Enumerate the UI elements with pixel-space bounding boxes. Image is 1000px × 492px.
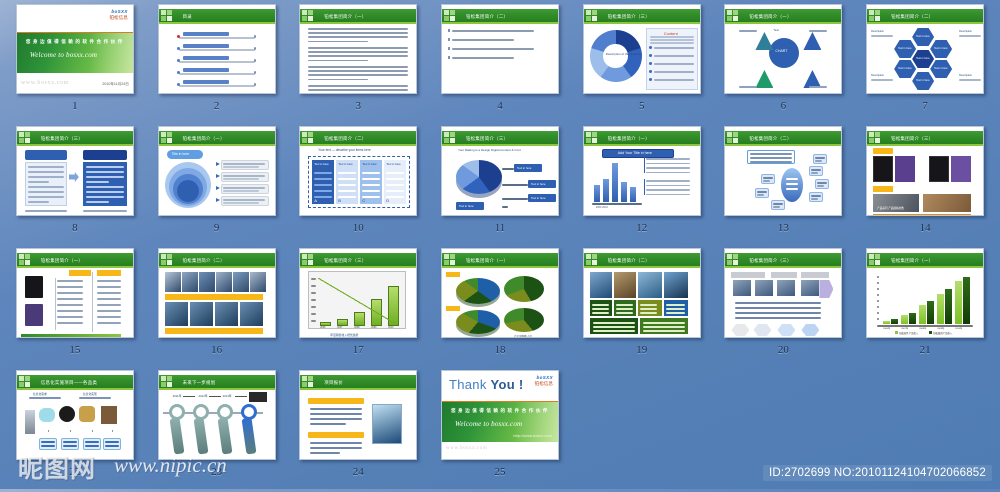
text-line: [643, 326, 685, 328]
slide-number: 14: [920, 222, 931, 234]
hex-node-4: [801, 324, 819, 336]
agenda-label: [183, 56, 229, 60]
slide-body: Your text — describe your items hereText…: [300, 146, 416, 215]
text-line: [308, 51, 408, 53]
summary-photo: [372, 404, 402, 444]
text-line: [338, 178, 356, 180]
pie-tag-label: Text in here: [517, 166, 531, 170]
text-line: [41, 445, 55, 447]
slide-thumbnail-6[interactable]: 铂松集团简介（一）CHARTText: [724, 4, 842, 94]
slide-thumbnail-11[interactable]: 铂松集团简介（三）Your Making is a Design Digital…: [441, 126, 559, 216]
text-line: [592, 304, 609, 306]
text-line: [666, 304, 685, 306]
slide-header-title: 铂松集团简介（一）: [183, 136, 225, 142]
text-line: [223, 163, 265, 165]
slide-thumbnail-24[interactable]: 项目报价: [299, 370, 417, 460]
photo-top: [250, 272, 266, 292]
text-line: [308, 55, 408, 57]
hex-desc: Description: [871, 74, 884, 77]
bar-series-2: [963, 277, 970, 325]
col-head-b: [97, 270, 121, 276]
text-line: [57, 310, 83, 312]
text-line: [28, 196, 64, 198]
text-line: [871, 79, 893, 81]
pie-chart: [456, 160, 502, 194]
slide-thumbnail-2[interactable]: 目录: [158, 4, 276, 94]
slide-thumbnail-21[interactable]: 铂松集团简介（一）2006年2007年2008年2009年2010年铂松软件产品…: [866, 248, 984, 338]
text-line: [811, 198, 818, 200]
text-line: [308, 89, 408, 91]
text-line: [593, 322, 635, 324]
banner-2: [308, 432, 364, 438]
slide-header-title: 项目报价: [324, 380, 343, 386]
slide-thumbnail-25[interactable]: Thank You !boSXX铂松信息您 身 边 值 得 信 赖 的 软 件 …: [441, 370, 559, 460]
slide-thumbnail-17[interactable]: 铂松集团简介（三）20062007200820092010年度销售收入增长趋势: [299, 248, 417, 338]
slide-body: CHARTText: [725, 24, 841, 93]
table-col-header: Text in here: [386, 162, 400, 166]
bar-series-2: [909, 313, 916, 325]
text-line: [386, 172, 404, 174]
slide-number: 2: [214, 100, 220, 112]
slide-header: 铂松集团简介（三）: [17, 131, 133, 144]
agenda-dot: [254, 35, 257, 38]
text-line: [739, 86, 757, 88]
slide-thumbnail-18[interactable]: 铂松集团简介（一）产品 销售额 占比: [441, 248, 559, 338]
chevron-right: [819, 280, 833, 298]
logo-en: boSXX: [535, 375, 553, 380]
hex-node-3: [777, 324, 795, 336]
bubble-node: [809, 166, 823, 176]
slide-header: 铂松集团简介（三）: [867, 131, 983, 144]
tag-1: [446, 272, 460, 277]
slide-body: 20062007200820092010年度销售收入增长趋势: [300, 268, 416, 337]
slide-header-title: 铂松集团简介（二）: [324, 136, 366, 142]
col-head-a: [69, 270, 91, 276]
photo-2: [614, 272, 636, 298]
text-line: [179, 73, 255, 75]
slide-header-title: 铂松集团简介（一）: [891, 258, 933, 264]
header-squares: [302, 10, 320, 21]
slide-thumbnail-4[interactable]: 铂松集团简介（二）: [441, 4, 559, 94]
text-line: [308, 32, 408, 34]
header-squares: [444, 10, 462, 21]
slide-body: [725, 146, 841, 215]
text-line: [57, 298, 83, 300]
star-center: [769, 38, 799, 68]
slide-cell-20: 铂松集团简介（三）20: [713, 248, 855, 370]
x-tick: 2006年: [883, 326, 890, 330]
slide-cell-3: 铂松集团简介（一）3: [287, 4, 429, 126]
text-line: [877, 306, 879, 308]
center-oval: [781, 168, 803, 202]
text-line: [362, 178, 380, 180]
text-line: [786, 188, 798, 190]
slide-header-title: 铂松集团简介（三）: [891, 136, 933, 142]
hex-desc: Description: [959, 74, 972, 77]
slide-header: 铂松集团简介（一）: [442, 253, 558, 266]
progress-bar: [21, 334, 121, 337]
text-line: [616, 308, 633, 310]
slide-thumbnail-9[interactable]: 铂松集团简介（一）Title in here: [158, 126, 276, 216]
slide-body: Description of the businessContent: [584, 24, 700, 93]
text-line: [654, 63, 694, 65]
photo-dark-1: [873, 156, 893, 182]
text-line: [311, 299, 316, 301]
text-line: [105, 441, 119, 443]
slide-body: [300, 24, 416, 93]
text-line: [640, 304, 657, 306]
hex-label: Text in here: [916, 57, 929, 60]
photo-top: [216, 272, 232, 292]
text-line: [308, 41, 368, 43]
slide-number: 4: [497, 100, 503, 112]
flow-year-3: 2013年: [223, 394, 232, 398]
slide-cell-11: 铂松集团简介（三）Your Making is a Design Digital…: [429, 126, 571, 248]
star-arm: [755, 70, 773, 88]
bar-series-1: [937, 294, 944, 324]
slide-body: Text in hereText in hereText in hereText…: [867, 24, 983, 93]
onion-item: [221, 196, 269, 206]
slide-thumbnail-20[interactable]: 铂松集团简介（三）: [724, 248, 842, 338]
text-line: [308, 79, 368, 81]
header-squares: [444, 132, 462, 143]
header-squares: [586, 254, 604, 265]
slide-thumbnail-1[interactable]: boSXX铂松信息您 身 边 值 得 信 赖 的 软 件 合 作 伙 伴Welc…: [16, 4, 134, 94]
text-line: [311, 278, 316, 280]
text-line: [815, 160, 822, 162]
text-line: [308, 47, 408, 49]
slide-header: 铂松集团简介（二）: [442, 9, 558, 22]
text-line: [311, 285, 316, 287]
website-url: www.bosxx.com: [446, 446, 487, 451]
x-tick: 2007年: [901, 326, 908, 330]
text-line: [310, 408, 362, 410]
slide-body: 产品 销售额 占比: [442, 268, 558, 337]
slide-header-title: 目录: [183, 14, 192, 20]
arrow-2: [209, 396, 221, 397]
slide-thumbnail-8[interactable]: 铂松集团简介（三）: [16, 126, 134, 216]
company-name: 您 身 边 值 得 信 赖 的 软 件 合 作 伙 伴: [26, 39, 123, 45]
x-tick: 2008年: [919, 326, 926, 330]
title-footer: www.bosxx.com2010年11月24日: [17, 73, 133, 93]
slide-cell-13: 铂松集团简介（二）13: [713, 126, 855, 248]
table-col-header: Text in here: [338, 162, 352, 166]
text-line: [28, 166, 64, 168]
slide-thumbnail-5[interactable]: 铂松集团简介（三）Description of the businessCont…: [583, 4, 701, 94]
legend-label-1: 铂松软件产品收入: [899, 331, 918, 335]
arrow-3: [235, 396, 247, 397]
text-line: [877, 312, 879, 314]
text-line: [452, 39, 514, 41]
text-line: [593, 326, 635, 328]
agenda-dot: [254, 83, 257, 86]
slide-header-title: 铂松集团简介（二）: [749, 136, 791, 142]
x-tick: 2010年: [955, 326, 962, 330]
org-label-2: 信息化实现: [83, 392, 97, 396]
text-line: [308, 70, 408, 72]
slide-thumbnail-13[interactable]: 铂松集团简介（二）: [724, 126, 842, 216]
photo-bottom: [215, 302, 238, 326]
slide-body: [725, 268, 841, 337]
text-line: [97, 316, 121, 318]
text-line: [338, 190, 356, 192]
welcome-text: Welcome to bosxx.com: [455, 420, 522, 428]
slide-cell-23: 未来下一步规划2011年2012年2013年23: [146, 370, 288, 492]
slide-header: 铂松集团简介（一）: [584, 131, 700, 144]
x-tick: 2007: [337, 327, 342, 329]
title-top: boSXX铂松信息: [17, 5, 133, 32]
logo: boSXX铂松信息: [535, 375, 553, 387]
text-line: [646, 194, 690, 196]
slide-thumbnail-14[interactable]: 铂松集团简介（三）产品系列 产品规格参数: [866, 126, 984, 216]
pie-chart-1: [456, 278, 500, 304]
node-box: [61, 438, 79, 450]
slide-header: 项目报价: [300, 375, 416, 388]
slide-number: 25: [494, 466, 505, 478]
slide-cell-9: 铂松集团简介（一）Title in here9: [146, 126, 288, 248]
text-line: [97, 310, 121, 312]
header-squares: [161, 132, 179, 143]
slide-cell-5: 铂松集团简介（三）Description of the businessCont…: [571, 4, 713, 126]
x-tick: 2010: [388, 327, 393, 329]
slide-thumbnail-7[interactable]: 铂松集团简介（二）Text in hereText in hereText in…: [866, 4, 984, 94]
text-line: [646, 185, 690, 187]
slide-cell-15: 铂松集团简介（一）15: [4, 248, 146, 370]
text-line: [643, 330, 685, 332]
slide-header: 铂松集团简介（二）: [300, 131, 416, 144]
slide-header-title: 铂松集团简介（二）: [466, 14, 508, 20]
slide-header-title: 信息化实施项目——各品类: [41, 380, 97, 386]
agenda-bullet: [177, 71, 180, 74]
text-line: [92, 430, 93, 432]
agenda-bullet: [177, 83, 180, 86]
text-line: [308, 85, 408, 87]
photo-purple-1: [895, 156, 915, 182]
text-line: [63, 441, 77, 443]
slide-number: 1: [72, 100, 78, 112]
slide-thumbnail-23[interactable]: 未来下一步规划2011年2012年2013年: [158, 370, 276, 460]
text-line: [28, 171, 64, 173]
text-line: [877, 294, 879, 296]
text-line: [809, 30, 827, 32]
x-tick: 2006: [320, 327, 325, 329]
hex-label: Text in here: [934, 67, 947, 70]
legend-swatch-2: [929, 331, 932, 334]
slide-thumbnail-19[interactable]: 铂松集团简介（二）: [583, 248, 701, 338]
speech-bubble-1: [39, 408, 55, 422]
bubble-node: [815, 179, 829, 189]
slide-header-title: 铂松集团简介（三）: [466, 136, 508, 142]
slide-body: [17, 146, 133, 215]
bar: [612, 163, 618, 202]
text-line: [57, 286, 83, 288]
donut-chart: [590, 30, 642, 82]
text-line: [314, 190, 332, 192]
person-icon-2: [79, 406, 95, 422]
slide-number: 16: [211, 344, 222, 356]
star-label-top: Text: [773, 28, 779, 32]
bar-series-2: [945, 289, 952, 324]
slide-number: 20: [778, 344, 789, 356]
agenda-label: [183, 68, 229, 72]
text-line: [757, 191, 767, 193]
slide-thumbnail-15[interactable]: 铂松集团简介（一）: [16, 248, 134, 338]
text-line: [97, 286, 121, 288]
onion-arrow: [216, 186, 220, 190]
image-id-label: ID:2702699 NO:20101124104702066852: [763, 465, 992, 481]
photo-bottom: [190, 302, 213, 326]
table-col-label: D: [386, 198, 389, 203]
slide-header: 目录: [159, 9, 275, 22]
banner-1: [308, 398, 364, 404]
org-label-1: 信息化需求: [33, 392, 47, 396]
welcome-text: Welcome to bosxx.com: [30, 51, 97, 59]
hex-label: Text in here: [916, 79, 929, 82]
slide-number: 17: [353, 344, 364, 356]
text-line: [223, 178, 259, 180]
bubble-node: [755, 188, 769, 198]
text-line: [654, 79, 694, 81]
text-line: [86, 171, 124, 173]
text-line: [750, 161, 792, 163]
magnifier-handle: [241, 417, 256, 454]
header-squares: [161, 376, 179, 387]
hex-label: Text in here: [916, 35, 929, 38]
photo-4: [664, 272, 688, 298]
green-band: 您 身 边 值 得 信 赖 的 软 件 合 作 伙 伴Welcome to bo…: [17, 33, 133, 73]
text-line: [28, 186, 64, 188]
slide-cell-19: 铂松集团简介（二）19: [571, 248, 713, 370]
slide-number: 10: [353, 222, 364, 234]
slide-cell-25: Thank You !boSXX铂松信息您 身 边 值 得 信 赖 的 软 件 …: [429, 370, 571, 492]
slide-header-title: 铂松集团简介（一）: [41, 258, 83, 264]
text-line: [763, 180, 770, 182]
text-line: [112, 430, 113, 432]
slide-number: 18: [494, 344, 505, 356]
photo-3: [638, 272, 662, 298]
thank-you-bold: You !: [491, 377, 524, 392]
text-line: [338, 172, 356, 174]
donut-center-label: Description of the business: [606, 52, 642, 56]
text-line: [179, 85, 255, 87]
text-line: [735, 312, 821, 314]
text-line: [786, 183, 798, 185]
thanks-body: Thank You !boSXX铂松信息您 身 边 值 得 信 赖 的 软 件 …: [442, 371, 558, 459]
slide-header-title: 铂松集团简介（一）: [466, 258, 508, 264]
bubble-node: [761, 174, 775, 184]
header-squares: [19, 132, 37, 143]
text-line: [83, 210, 127, 212]
text-line: [311, 320, 316, 322]
slide-thumbnail-3[interactable]: 铂松集团简介（一）: [299, 4, 417, 94]
text-line: [57, 322, 83, 324]
legend-swatch-1: [895, 331, 898, 334]
slide-cell-7: 铂松集团简介（二）Text in hereText in hereText in…: [854, 4, 996, 126]
text-line: [223, 175, 265, 177]
slide-header-title: 铂松集团简介（二）: [608, 258, 650, 264]
text-line: [646, 158, 690, 160]
header-squares: [19, 254, 37, 265]
slide-thumbnail-22[interactable]: 信息化实施项目——各品类信息化需求信息化实现: [16, 370, 134, 460]
photo-top: [182, 272, 198, 292]
node-box: [103, 438, 121, 450]
text-line: [308, 36, 408, 38]
text-line: [654, 71, 694, 73]
slide-body: [442, 24, 558, 93]
slide-body: [159, 268, 275, 337]
text-line: [877, 288, 879, 290]
text-line: [223, 202, 259, 204]
para-marker: [644, 179, 646, 195]
text-line: [310, 423, 346, 425]
text-line: [308, 93, 408, 94]
text-line: [750, 153, 792, 155]
text-line: [877, 318, 879, 320]
slide-cell-6: 铂松集团简介（一）CHARTText6: [713, 4, 855, 126]
logo: boSXX铂松信息: [109, 9, 127, 21]
text-line: [179, 61, 255, 63]
table-col-label: B: [338, 198, 341, 203]
text-line: [650, 36, 694, 38]
text-line: [311, 306, 316, 308]
text-line: [757, 194, 764, 196]
onion-arrow: [216, 162, 220, 166]
slide-header-title: 铂松集团简介（一）: [608, 136, 650, 142]
text-line: [643, 322, 685, 324]
slide-header: 铂松集团简介（二）: [159, 253, 275, 266]
header-squares: [302, 254, 320, 265]
slide-thumbnail-10[interactable]: 铂松集团简介（二）Your text — describe your items…: [299, 126, 417, 216]
slide-header: 信息化实施项目——各品类: [17, 375, 133, 388]
slide-header: 铂松集团简介（一）: [725, 9, 841, 22]
slide-header: 铂松集团简介（一）: [300, 9, 416, 22]
slide-header: 铂松集团简介（三）: [725, 253, 841, 266]
magnifier-handle: [217, 417, 232, 454]
text-line: [314, 178, 332, 180]
header-squares: [727, 132, 745, 143]
divider-v: [55, 278, 56, 330]
text-line: [308, 66, 408, 68]
x-tick: 2009年: [937, 326, 944, 330]
slide-header: 铂松集团简介（一）: [867, 253, 983, 266]
slide-body: [300, 390, 416, 459]
header-squares: [586, 10, 604, 21]
slide-cell-24: 项目报价24: [287, 370, 429, 492]
slide-header: 铂松集团简介（二）: [725, 131, 841, 144]
text-line: [57, 304, 83, 306]
content-bullet: [649, 70, 652, 73]
flow-year-2: 2012年: [199, 394, 208, 398]
slide-cell-14: 铂松集团简介（三）产品系列 产品规格参数14: [854, 126, 996, 248]
slide-cell-8: 铂松集团简介（三）8: [4, 126, 146, 248]
text-line: [666, 308, 685, 310]
title-chip-label: Title in here: [172, 152, 190, 156]
slide-thumbnail-12[interactable]: 铂松集团简介（一）Add Your Title in here2009 2010: [583, 126, 701, 216]
onion-item: [221, 172, 269, 182]
text-line: [735, 317, 821, 319]
photo-top: [165, 272, 181, 292]
text-line: [750, 157, 792, 159]
bubble-node: [771, 200, 785, 210]
text-line: [386, 178, 404, 180]
node-box: [39, 438, 57, 450]
flow-head-1: [731, 272, 765, 278]
slide-number: 3: [356, 100, 362, 112]
device-img: [755, 280, 773, 296]
node-box: [83, 438, 101, 450]
slide-thumbnail-16[interactable]: 铂松集团简介（二）: [158, 248, 276, 338]
bullet: [448, 29, 451, 32]
